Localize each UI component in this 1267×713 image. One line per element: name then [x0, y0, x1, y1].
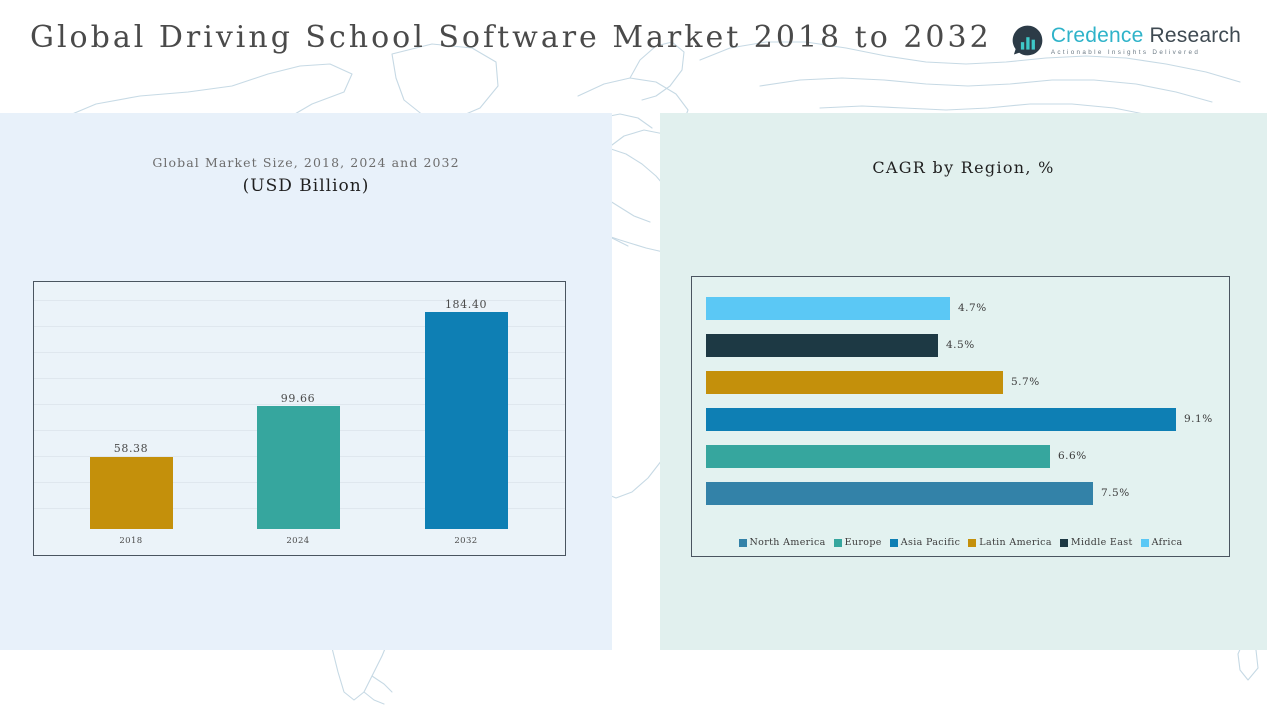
- bar-2018: [90, 457, 173, 529]
- legend-swatch-middle-east: [1060, 539, 1068, 547]
- brand-logo: Credence Research Actionable Insights De…: [1011, 24, 1241, 57]
- bar-middle-east: [706, 334, 938, 357]
- logo-text-block: Credence Research Actionable Insights De…: [1051, 25, 1241, 56]
- left-chart-title: Global Market Size, 2018, 2024 and 2032 …: [0, 155, 612, 196]
- bar-value-2018: 58.38: [71, 442, 191, 455]
- legend-swatch-north-america: [739, 539, 747, 547]
- bar-europe: [706, 445, 1050, 468]
- right-chart-block: CAGR by Region, % 4.7% 4.5% 5.7% 9.1% 6.…: [660, 113, 1267, 650]
- legend-item-middle-east: Middle East: [1060, 537, 1133, 548]
- left-chart-title-line2: (USD Billion): [0, 176, 612, 196]
- bar-value-2032: 184.40: [406, 298, 526, 311]
- left-chart-title-line1: Global Market Size, 2018, 2024 and 2032: [0, 155, 612, 170]
- header: Global Driving School Software Market 20…: [0, 0, 1267, 113]
- legend-swatch-asia-pacific: [890, 539, 898, 547]
- logo-tagline: Actionable Insights Delivered: [1051, 50, 1241, 56]
- bar-north-america: [706, 482, 1093, 505]
- right-chart-title: CAGR by Region, %: [660, 158, 1267, 177]
- bar-value-africa: 4.7%: [958, 302, 987, 314]
- bar-asia-pacific: [706, 408, 1176, 431]
- legend-swatch-africa: [1141, 539, 1149, 547]
- legend-label-asia-pacific: Asia Pacific: [901, 537, 961, 548]
- bar-value-latin-america: 5.7%: [1011, 376, 1040, 388]
- horizontal-bar-chart-plot: 4.7% 4.5% 5.7% 9.1% 6.6% 7.5% North Amer…: [691, 276, 1230, 557]
- left-chart-block: Global Market Size, 2018, 2024 and 2032 …: [0, 113, 612, 650]
- bar-value-north-america: 7.5%: [1101, 487, 1130, 499]
- bar-chart-circle-icon: [1011, 24, 1044, 57]
- logo-name-part2: Research: [1150, 24, 1241, 47]
- legend-item-north-america: North America: [739, 537, 826, 548]
- legend-label-africa: Africa: [1152, 537, 1183, 548]
- logo-name: Credence Research: [1051, 25, 1241, 46]
- logo-name-part1: Credence: [1051, 24, 1144, 47]
- vertical-bar-chart-plot: 58.38 2018 99.66 2024 184.40 2032: [33, 281, 566, 556]
- legend-swatch-latin-america: [968, 539, 976, 547]
- legend-label-europe: Europe: [845, 537, 882, 548]
- legend-item-africa: Africa: [1141, 537, 1183, 548]
- legend-item-latin-america: Latin America: [968, 537, 1052, 548]
- bar-africa: [706, 297, 950, 320]
- right-chart-title-text: CAGR by Region, %: [660, 158, 1267, 177]
- legend-swatch-europe: [834, 539, 842, 547]
- bar-category-2032: 2032: [406, 536, 526, 546]
- legend-item-europe: Europe: [834, 537, 882, 548]
- legend-label-north-america: North America: [750, 537, 826, 548]
- bar-value-2024: 99.66: [238, 392, 358, 405]
- bar-category-2018: 2018: [71, 536, 191, 546]
- legend-label-middle-east: Middle East: [1071, 537, 1133, 548]
- bar-value-europe: 6.6%: [1058, 450, 1087, 462]
- infographic-root: Global Driving School Software Market 20…: [0, 0, 1267, 713]
- page-title: Global Driving School Software Market 20…: [30, 20, 992, 55]
- chart-legend: North America Europe Asia Pacific Latin …: [692, 537, 1229, 548]
- bar-2024: [257, 406, 340, 529]
- bar-latin-america: [706, 371, 1003, 394]
- legend-item-asia-pacific: Asia Pacific: [890, 537, 961, 548]
- bar-2032: [425, 312, 508, 529]
- bar-category-2024: 2024: [238, 536, 358, 546]
- bar-value-middle-east: 4.5%: [946, 339, 975, 351]
- bar-value-asia-pacific: 9.1%: [1184, 413, 1213, 425]
- legend-label-latin-america: Latin America: [979, 537, 1052, 548]
